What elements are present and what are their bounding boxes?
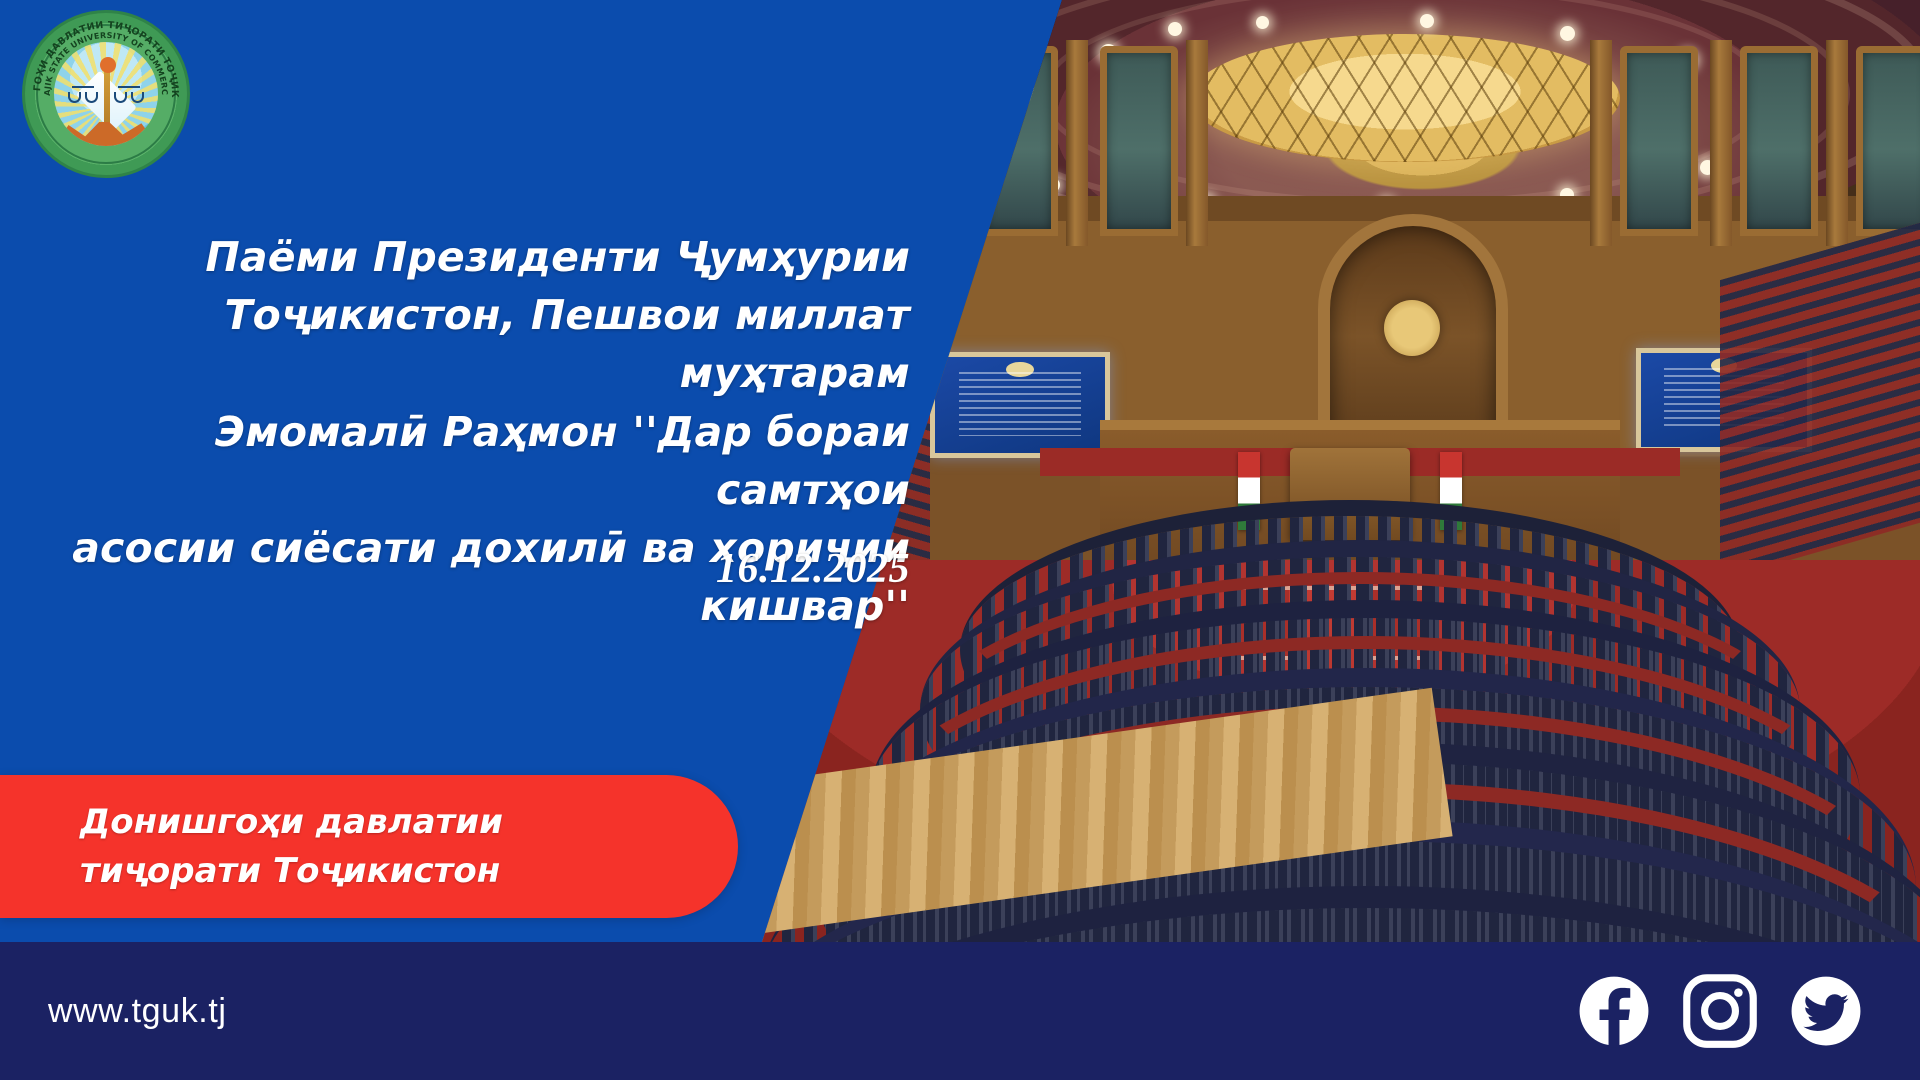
university-logo: ДОНИШГОҲИ ДАВЛАТИИ ТИҶОРАТИ ТОҶИКИСТОН T… — [22, 10, 190, 178]
website-url[interactable]: www.tguk.tj — [0, 992, 227, 1031]
university-name-banner: Донишгоҳи давлатии тиҷорати Тоҷикистон — [0, 775, 738, 918]
stained-glass-dome — [1190, 34, 1620, 162]
hall-screen-left — [930, 352, 1110, 458]
gallery-right — [1720, 220, 1920, 580]
poster-canvas: ДОНИШГОҲИ ДАВЛАТИИ ТИҶОРАТИ ТОҶИКИСТОН T… — [0, 0, 1920, 1080]
logo-ring-text: ДОНИШГОҲИ ДАВЛАТИИ ТИҶОРАТИ ТОҶИКИСТОН T… — [22, 10, 190, 178]
headline-line-3: Эмомалӣ Раҳмон ''Дар бораи самтҳои — [60, 403, 910, 519]
headline-line-1: Паёми Президенти Ҷумҳурии — [60, 228, 910, 286]
facebook-icon[interactable] — [1576, 973, 1652, 1049]
state-emblem — [1384, 300, 1440, 356]
twitter-icon[interactable] — [1788, 973, 1864, 1049]
event-date: 16.12.2025 — [60, 545, 910, 593]
headline-line-2: Тоҷикистон, Пешвои миллат муҳтарам — [60, 286, 910, 402]
social-links — [1576, 973, 1920, 1049]
university-name-line-2: тиҷорати Тоҷикистон — [80, 847, 503, 895]
university-name-text: Донишгоҳи давлатии тиҷорати Тоҷикистон — [0, 798, 503, 895]
instagram-icon[interactable] — [1682, 973, 1758, 1049]
university-name-line-1: Донишгоҳи давлатии — [80, 798, 503, 846]
footer-bar: www.tguk.tj — [0, 942, 1920, 1080]
